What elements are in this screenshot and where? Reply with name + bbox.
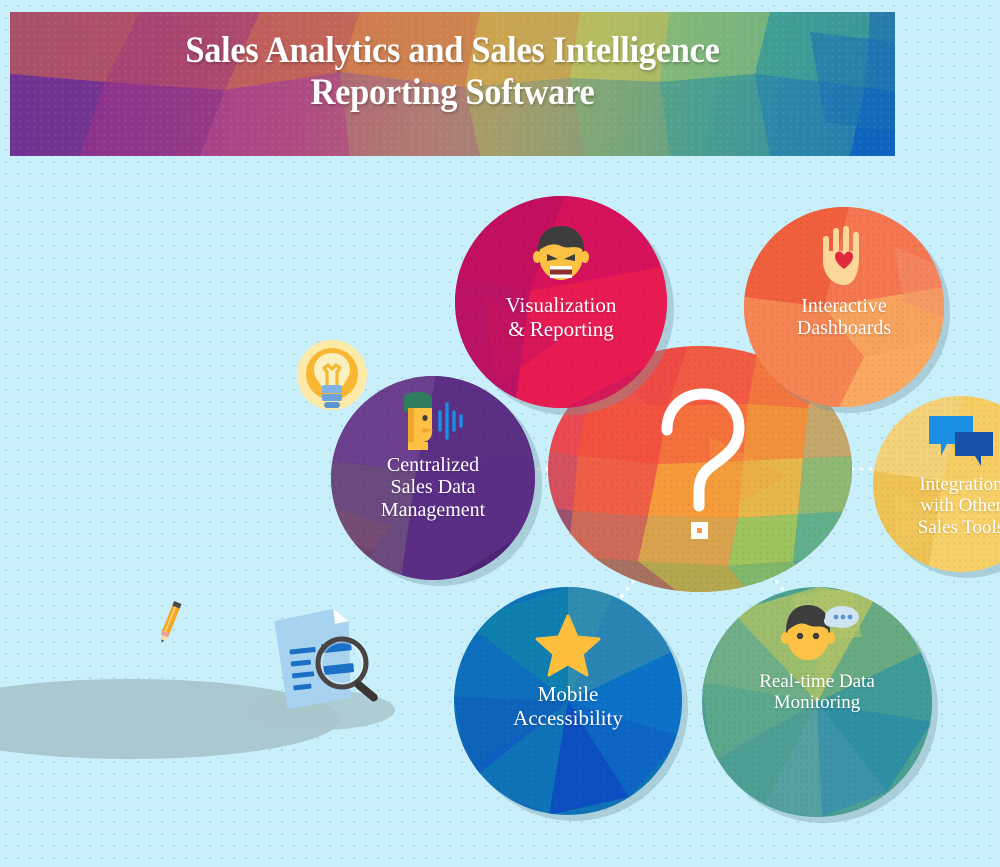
bubble-realtime-data-monitoring[interactable]: Real-time Data Monitoring [702, 587, 932, 817]
hand-with-heart-icon [811, 223, 877, 291]
infographic-canvas: Sales Analytics and Sales IntelligenceRe… [0, 0, 1000, 867]
bubble-label-visualization: Visualization & Reporting [506, 294, 617, 341]
bubble-label-integration: Integration with Other Sales Tools [918, 474, 1000, 538]
page-title-line-2: Reporting Software [311, 72, 595, 113]
page-title: Sales Analytics and Sales IntelligenceRe… [41, 30, 864, 114]
question-mark-icon [647, 382, 757, 562]
bubble-integration-sales-tools[interactable]: Integration with Other Sales Tools [873, 396, 1000, 572]
bubble-label-mobile: Mobile Accessibility [513, 683, 623, 730]
document-search-icon [265, 608, 395, 713]
bubble-label-realtime: Real-time Data Monitoring [759, 671, 875, 714]
speaking-head-icon [394, 390, 472, 452]
star-icon [535, 613, 601, 677]
bubble-mobile-accessibility[interactable]: Mobile Accessibility [454, 587, 682, 815]
bubble-interactive-dashboards[interactable]: Interactive Dashboards [744, 207, 944, 407]
thought-bubble-icon [824, 606, 859, 628]
header-banner: Sales Analytics and Sales IntelligenceRe… [10, 12, 895, 156]
page-title-line-1: Sales Analytics and Sales Intelligence [185, 30, 719, 71]
angry-face-icon [525, 220, 597, 292]
pencil-icon [155, 597, 185, 647]
bubble-label-centralized: Centralized Sales Data Management [381, 454, 485, 521]
bubble-centralized-sales-data[interactable]: Centralized Sales Data Management [331, 376, 535, 580]
chat-bubbles-icon [925, 412, 997, 472]
bubble-label-dashboards: Interactive Dashboards [797, 295, 891, 340]
thinking-face-icon [774, 601, 860, 667]
